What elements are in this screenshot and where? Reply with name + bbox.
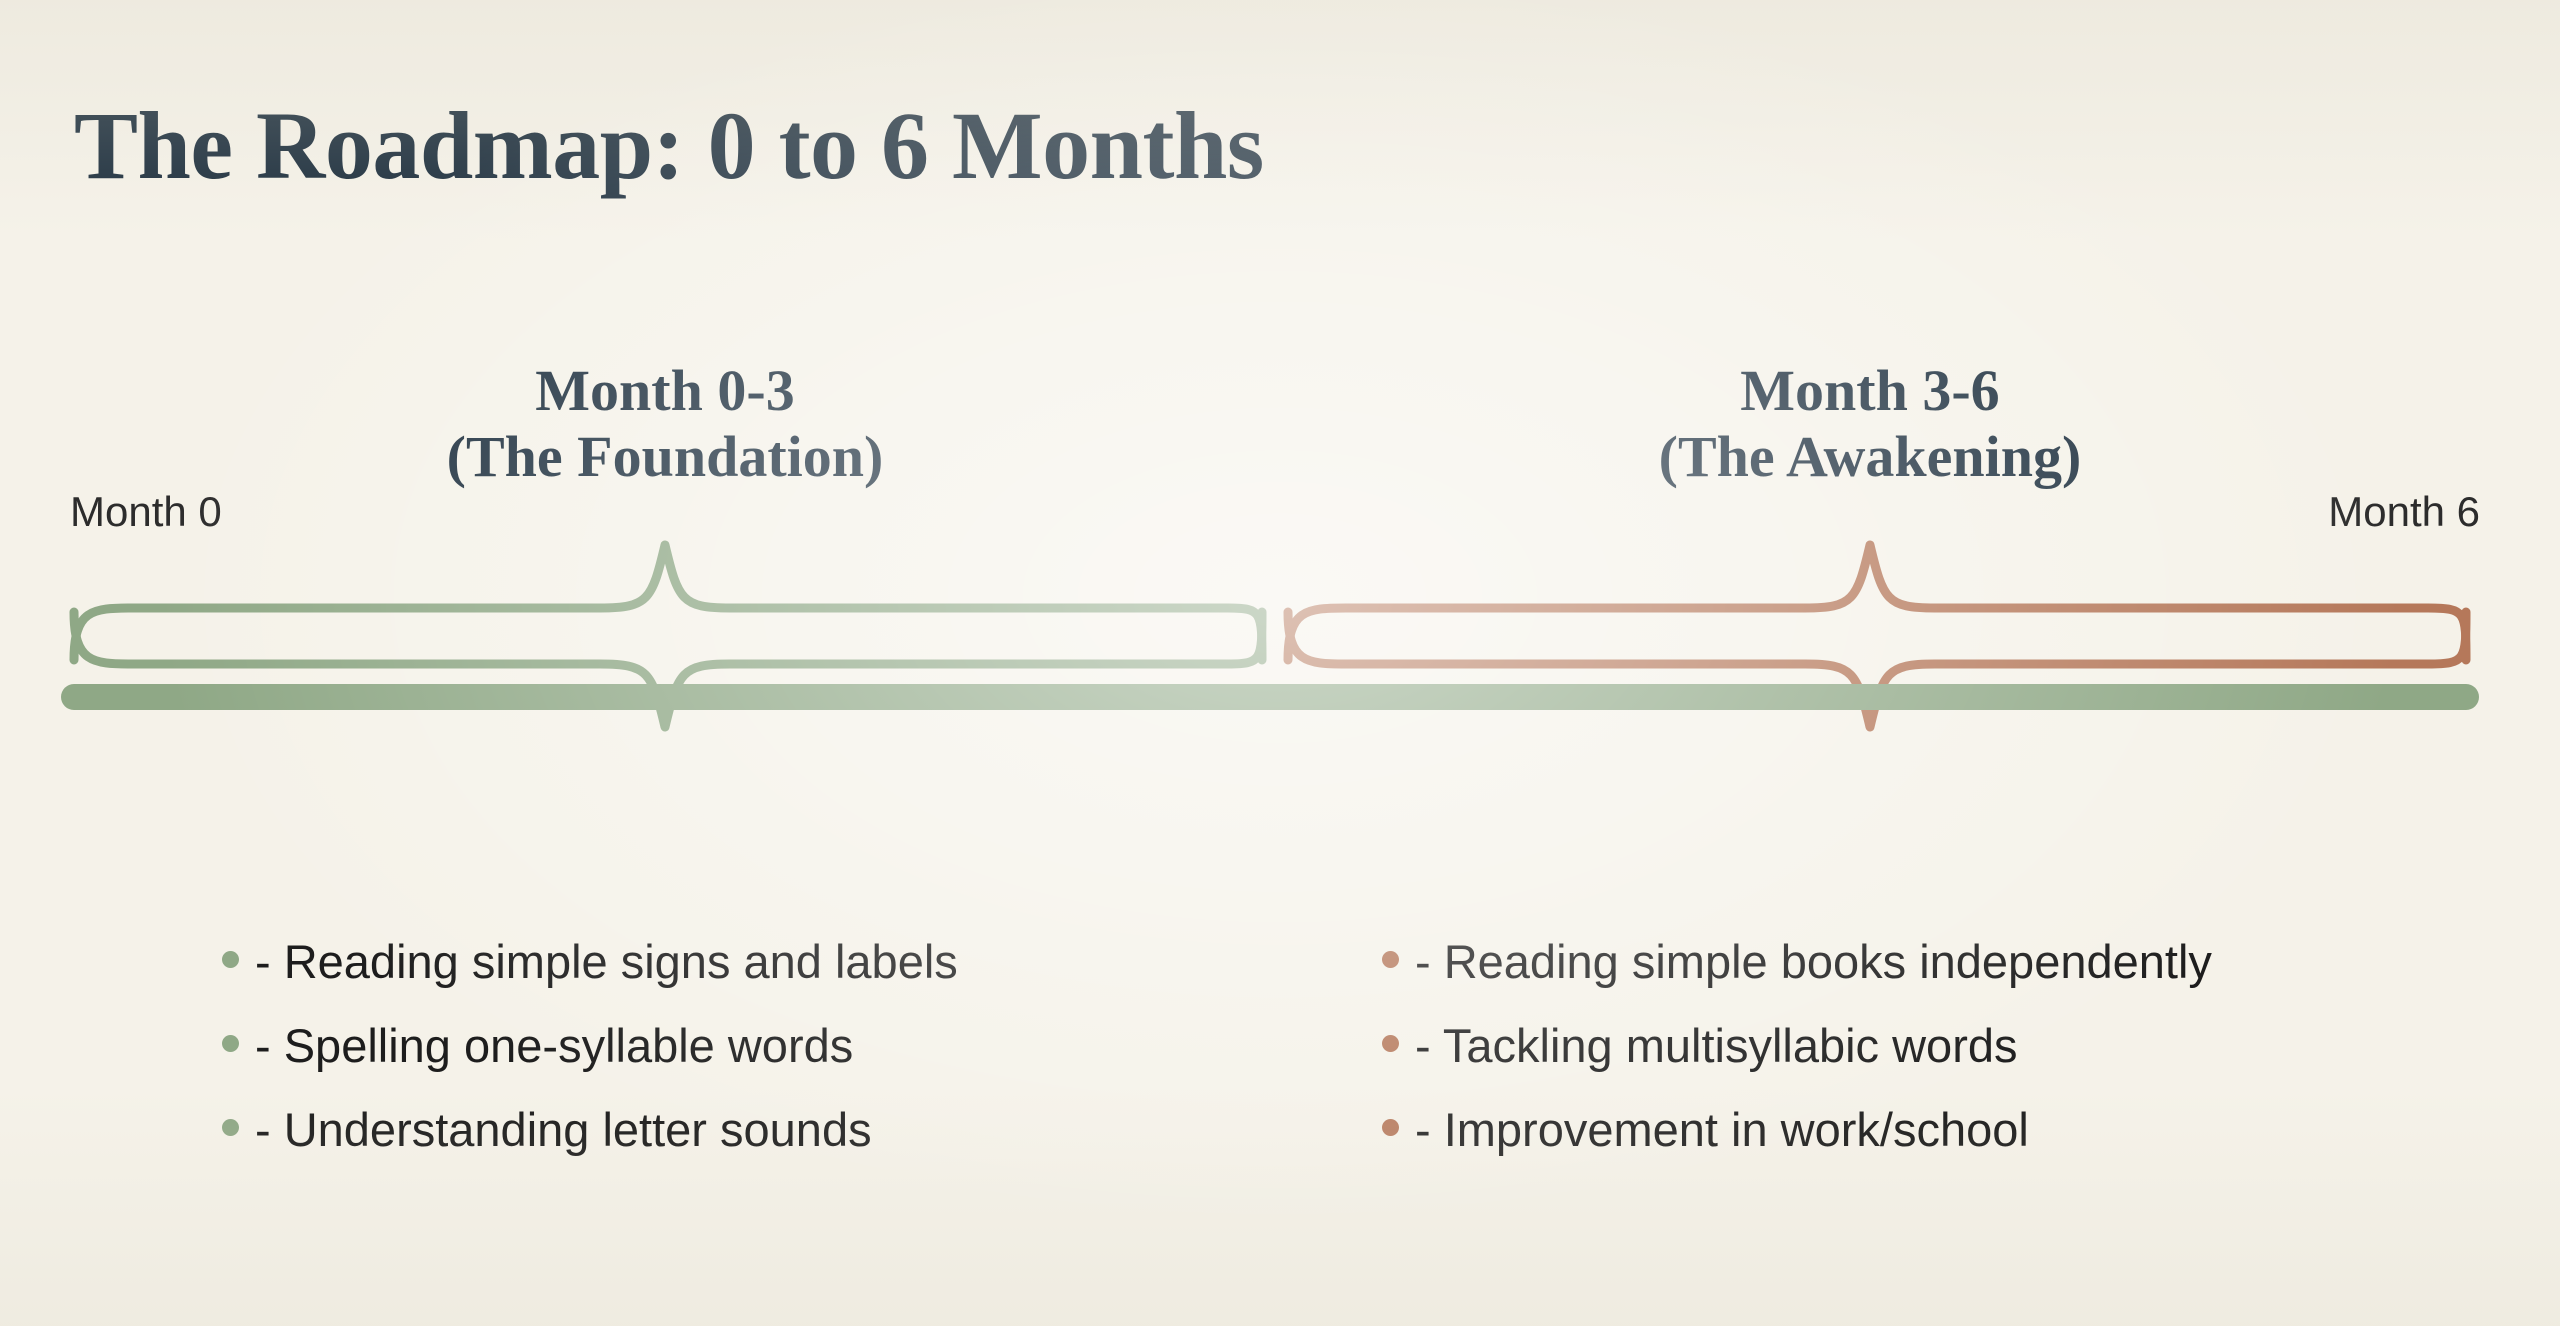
list-item: - Improvement in work/school: [1382, 1106, 2212, 1190]
bullet-dot-icon: [222, 1119, 239, 1136]
phase-heading-foundation: Month 0-3 (The Foundation): [447, 358, 884, 489]
bullet-dot-icon: [1382, 1119, 1399, 1136]
outcome-list-foundation: - Reading simple signs and labels - Spel…: [222, 938, 958, 1190]
outcome-list-awakening: - Reading simple books independently - T…: [1382, 938, 2212, 1190]
outcome-text: - Tackling multisyllabic words: [1415, 1022, 2018, 1069]
brace-top-foundation: [74, 545, 1262, 660]
list-item: - Reading simple signs and labels: [222, 938, 958, 1022]
roadmap-slide: The Roadmap: 0 to 6 Months Month 0-3 (Th…: [0, 0, 2560, 1326]
list-item: - Spelling one-syllable words: [222, 1022, 958, 1106]
outcome-text: - Reading simple books independently: [1415, 938, 2212, 985]
list-item: - Reading simple books independently: [1382, 938, 2212, 1022]
list-item: - Tackling multisyllabic words: [1382, 1022, 2212, 1106]
bullet-dot-icon: [222, 951, 239, 968]
brace-top-awakening: [1288, 545, 2466, 660]
phase-name-label-foundation: (The Foundation): [447, 424, 884, 490]
page-title: The Roadmap: 0 to 6 Months: [74, 98, 1264, 194]
bullet-dot-icon: [222, 1035, 239, 1052]
phase-name-label-awakening: (The Awakening): [1659, 424, 2082, 490]
outcome-text: - Reading simple signs and labels: [255, 938, 958, 985]
bullet-dot-icon: [1382, 1035, 1399, 1052]
outcome-text: - Spelling one-syllable words: [255, 1022, 853, 1069]
timeline-graphic: [0, 490, 2560, 870]
bullet-dot-icon: [1382, 951, 1399, 968]
phase-heading-awakening: Month 3-6 (The Awakening): [1659, 358, 2082, 489]
phase-range-label-awakening: Month 3-6: [1740, 358, 1999, 423]
list-item: - Understanding letter sounds: [222, 1106, 958, 1190]
outcome-text: - Improvement in work/school: [1415, 1106, 2029, 1153]
outcome-text: - Understanding letter sounds: [255, 1106, 872, 1153]
phase-range-label-foundation: Month 0-3: [535, 358, 794, 423]
